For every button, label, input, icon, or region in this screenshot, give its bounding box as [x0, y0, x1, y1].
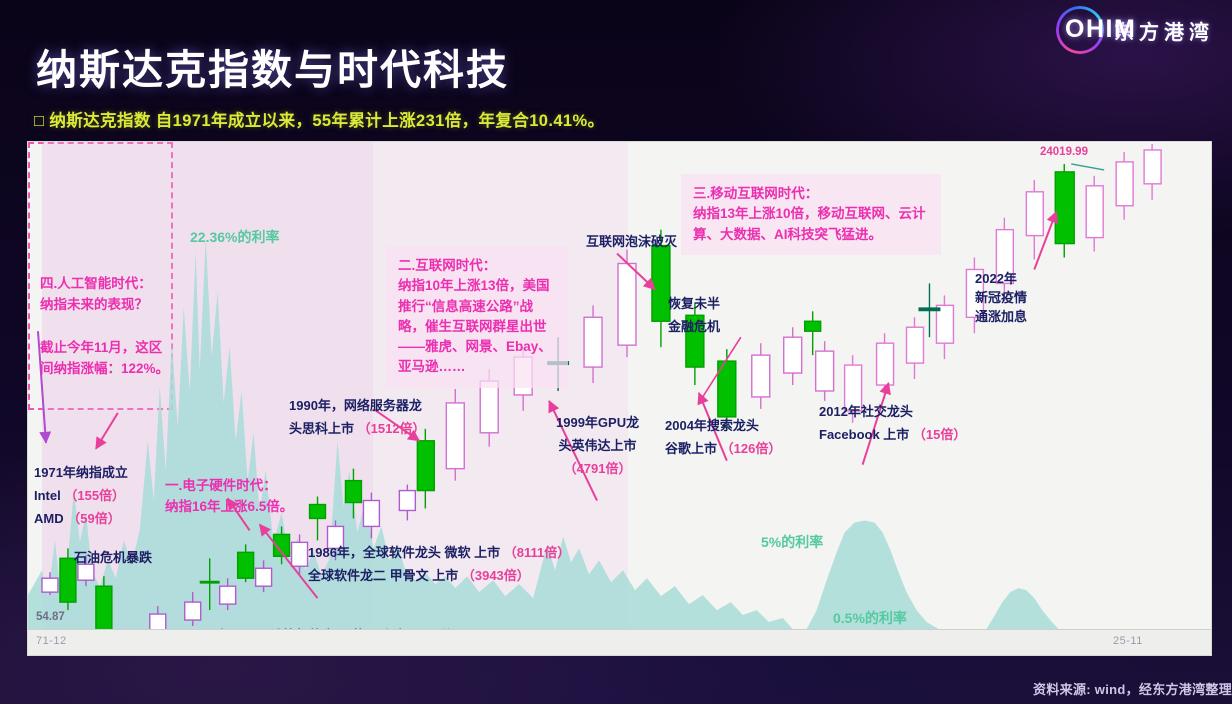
- annotation-covid-line1: 2022年: [975, 270, 1027, 289]
- annotation-google-label2: 谷歌上市: [665, 441, 717, 456]
- annotation-google-line1: 2004年搜索龙头: [665, 415, 781, 438]
- era-ai-body2: 截止今年11月，这区间纳指涨幅：122%。: [40, 338, 172, 380]
- annotation-cisco-1990: 1990年，网络服务器龙 头思科上市 （1512倍）: [289, 395, 426, 441]
- era-ai-title-block: 四.人工智能时代： 纳指未来的表现？: [40, 274, 168, 316]
- annotation-google-mult: （126倍）: [721, 441, 782, 456]
- annotation-oracle-line: 全球软件龙二 甲骨文 上市 （3943倍）: [308, 565, 570, 588]
- annotation-intel-label: Intel: [34, 488, 61, 503]
- annotation-google-2004: 2004年搜索龙头 谷歌上市 （126倍）: [665, 415, 781, 461]
- annotation-founding-1971: 1971年纳指成立 Intel （155倍） AMD （59倍）: [34, 462, 128, 530]
- page-subtitle: □ 纳斯达克指数 自1971年成立以来，55年累计上涨231倍，年复合10.41…: [34, 107, 604, 131]
- era-mobile-title: 三.移动互联网时代：: [693, 184, 929, 204]
- annotation-covid-line3: 通涨加息: [975, 308, 1027, 327]
- annotation-microsoft-1986: 1986年，全球软件龙头 微软 上市 （8111倍） 全球软件龙二 甲骨文 上市…: [308, 542, 570, 588]
- annotation-msft-mult: （8111倍）: [504, 545, 571, 560]
- annotation-cisco-line1: 1990年，网络服务器龙: [289, 395, 426, 418]
- era-callout-internet: 二.互联网时代： 纳指10年上涨13倍，美国推行“信息高速公路”战略，催生互联网…: [386, 246, 568, 388]
- x-axis-start-label: 71-12: [36, 635, 67, 647]
- value-label-start: 54.87: [36, 611, 65, 623]
- annotation-covid-line2: 新冠疫情: [975, 289, 1027, 308]
- annotation-intel-mult: （155倍）: [64, 488, 125, 503]
- annotation-msft-label: 1986年，全球软件龙头 微软 上市: [308, 545, 500, 560]
- brand-wordmark: OHIM: [1065, 15, 1136, 44]
- era-hardware-body: 纳指16年上涨6.5倍。: [165, 497, 335, 518]
- annotation-oracle-label: 全球软件龙二 甲骨文 上市: [308, 568, 458, 583]
- x-axis-end-label: 25-11: [1113, 635, 1143, 647]
- value-label-end: 24019.99: [1040, 146, 1088, 158]
- annotation-nvda-line2: 头英伟达上市: [556, 435, 639, 458]
- slide-root: OHIM 东方港湾 纳斯达克指数与时代科技 □ 纳斯达克指数 自1971年成立以…: [0, 0, 1232, 704]
- source-footer: 资料来源: wind，经东方港湾整理: [1033, 679, 1232, 698]
- annotation-amd-label: AMD: [34, 511, 64, 526]
- annotation-facebook-2012: 2012年社交龙头 Facebook 上市 （15倍）: [819, 401, 966, 447]
- annotation-fb-line2: Facebook 上市 （15倍）: [819, 424, 966, 447]
- annotation-gfc-line1: 恢复未半: [668, 293, 720, 316]
- rate-label-2236: 22.36%的利率: [190, 227, 279, 247]
- annotation-cisco-label2: 头思科上市: [289, 421, 354, 436]
- era-internet-title: 二.互联网时代：: [398, 256, 556, 276]
- annotation-google-line2: 谷歌上市 （126倍）: [665, 438, 781, 461]
- era-ai-body: 纳指未来的表现？: [40, 295, 168, 316]
- chart-x-axis: 71-12 25-11: [28, 629, 1211, 655]
- annotation-financial-crisis: 恢复未半 金融危机: [668, 293, 720, 339]
- era-internet-body: 纳指10年上涨13倍，美国推行“信息高速公路”战略，催生互联网群星出世——雅虎、…: [398, 276, 556, 377]
- annotation-amd: AMD （59倍）: [34, 508, 128, 531]
- annotation-cisco-mult: （1512倍）: [358, 421, 426, 436]
- annotation-intel: Intel （155倍）: [34, 485, 128, 508]
- era-callout-hardware: 一.电子硬件时代： 纳指16年上涨6.5倍。: [165, 476, 335, 518]
- annotation-fb-mult: （15倍）: [913, 427, 966, 442]
- annotation-msft-line: 1986年，全球软件龙头 微软 上市 （8111倍）: [308, 542, 570, 565]
- page-title: 纳斯达克指数与时代科技: [36, 36, 509, 96]
- annotation-fb-line1: 2012年社交龙头: [819, 401, 966, 424]
- annotation-oil-crisis: 石油危机暴跌: [74, 547, 152, 570]
- era-mobile-body: 纳指13年上涨10倍，移动互联网、云计算、大数据、AI科技突飞猛进。: [693, 204, 929, 245]
- nasdaq-chart-panel: 二.互联网时代： 纳指10年上涨13倍，美国推行“信息高速公路”战略，催生互联网…: [27, 141, 1212, 656]
- era-ai-title: 四.人工智能时代：: [40, 274, 168, 295]
- annotation-oracle-mult: （3943倍）: [462, 568, 530, 583]
- annotation-cisco-line2: 头思科上市 （1512倍）: [289, 418, 426, 441]
- annotation-nvda-mult: （4791倍）: [556, 458, 639, 481]
- annotation-nvidia-1999: 1999年GPU龙 头英伟达上市 （4791倍）: [556, 412, 639, 480]
- annotation-bubble-burst: 互联网泡沫破灭: [586, 231, 677, 254]
- nasdaq-candlestick-series: [28, 142, 1211, 629]
- annotation-gfc-line2: 金融危机: [668, 316, 720, 339]
- annotation-founding-line1: 1971年纳指成立: [34, 462, 128, 485]
- annotation-fb-label2: Facebook 上市: [819, 427, 909, 442]
- rate-label-05: 0.5%的利率: [833, 608, 907, 628]
- era-callout-mobile: 三.移动互联网时代： 纳指13年上涨10倍，移动互联网、云计算、大数据、AI科技…: [681, 174, 941, 255]
- era-hardware-title: 一.电子硬件时代：: [165, 476, 335, 497]
- chart-plot-area: 二.互联网时代： 纳指10年上涨13倍，美国推行“信息高速公路”战略，催生互联网…: [28, 142, 1211, 629]
- annotation-covid-2022: 2022年 新冠疫情 通涨加息: [975, 270, 1027, 327]
- annotation-nvda-line1: 1999年GPU龙: [556, 412, 639, 435]
- rate-label-5: 5%的利率: [761, 532, 823, 552]
- annotation-amd-mult: （59倍）: [67, 511, 120, 526]
- brand-logo: OHIM 东方港湾: [1056, 6, 1214, 54]
